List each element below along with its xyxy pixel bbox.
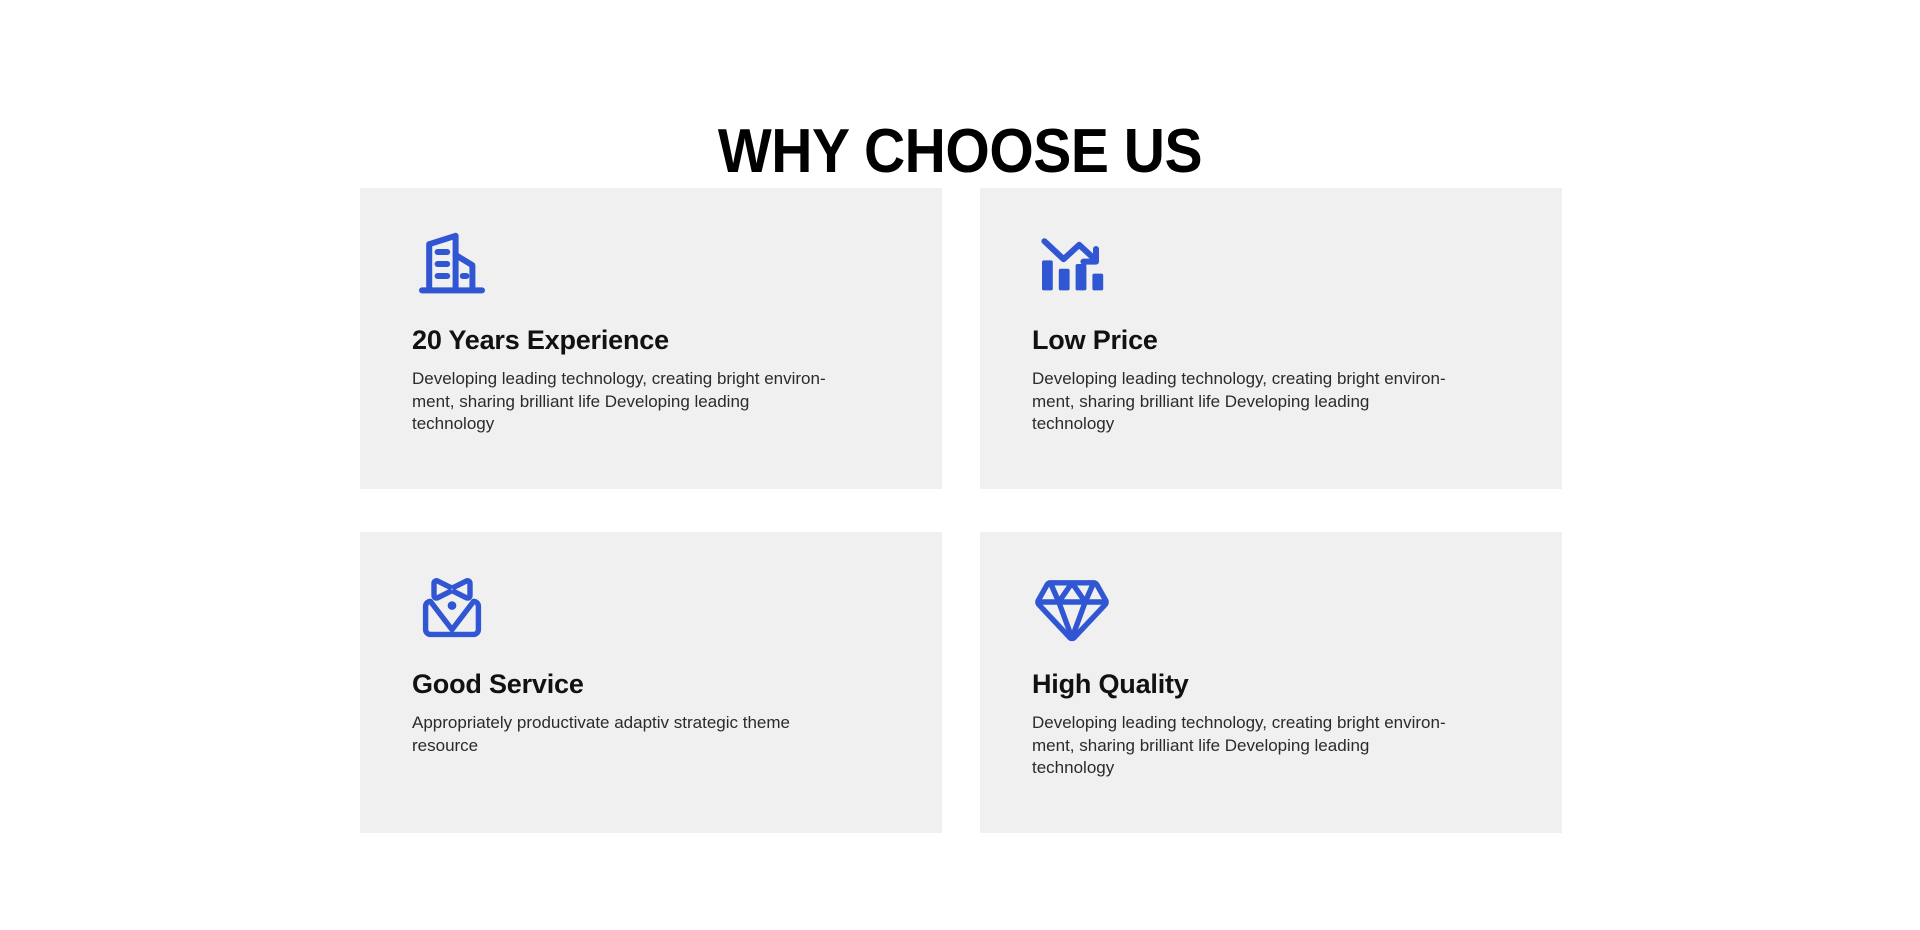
feature-card-title: 20 Years Experience bbox=[412, 324, 890, 356]
feature-card-good-service[interactable]: Good Service Appropriately productivate … bbox=[360, 532, 942, 833]
declining-bar-chart-icon bbox=[1032, 228, 1112, 300]
feature-card-description: Developing leading technology, creating … bbox=[412, 368, 830, 436]
office-building-icon bbox=[412, 228, 492, 300]
feature-card-20-years-experience[interactable]: 20 Years Experience Developing leading t… bbox=[360, 188, 942, 489]
why-choose-us-section: WHY CHOOSE US 20 Years Experience Develo… bbox=[0, 0, 1920, 930]
feature-card-title: Low Price bbox=[1032, 324, 1510, 356]
feature-card-title: Good Service bbox=[412, 668, 890, 700]
feature-card-title: High Quality bbox=[1032, 668, 1510, 700]
tuxedo-bowtie-icon bbox=[412, 572, 492, 644]
feature-card-high-quality[interactable]: High Quality Developing leading technolo… bbox=[980, 532, 1562, 833]
feature-card-description: Developing leading technology, creating … bbox=[1032, 712, 1450, 780]
feature-card-description: Appropriately productivate adaptiv strat… bbox=[412, 712, 830, 757]
features-grid: 20 Years Experience Developing leading t… bbox=[360, 188, 1562, 833]
feature-card-low-price[interactable]: Low Price Developing leading technology,… bbox=[980, 188, 1562, 489]
page-title: WHY CHOOSE US bbox=[77, 120, 1843, 184]
feature-card-description: Developing leading technology, creating … bbox=[1032, 368, 1450, 436]
diamond-icon bbox=[1032, 572, 1112, 644]
